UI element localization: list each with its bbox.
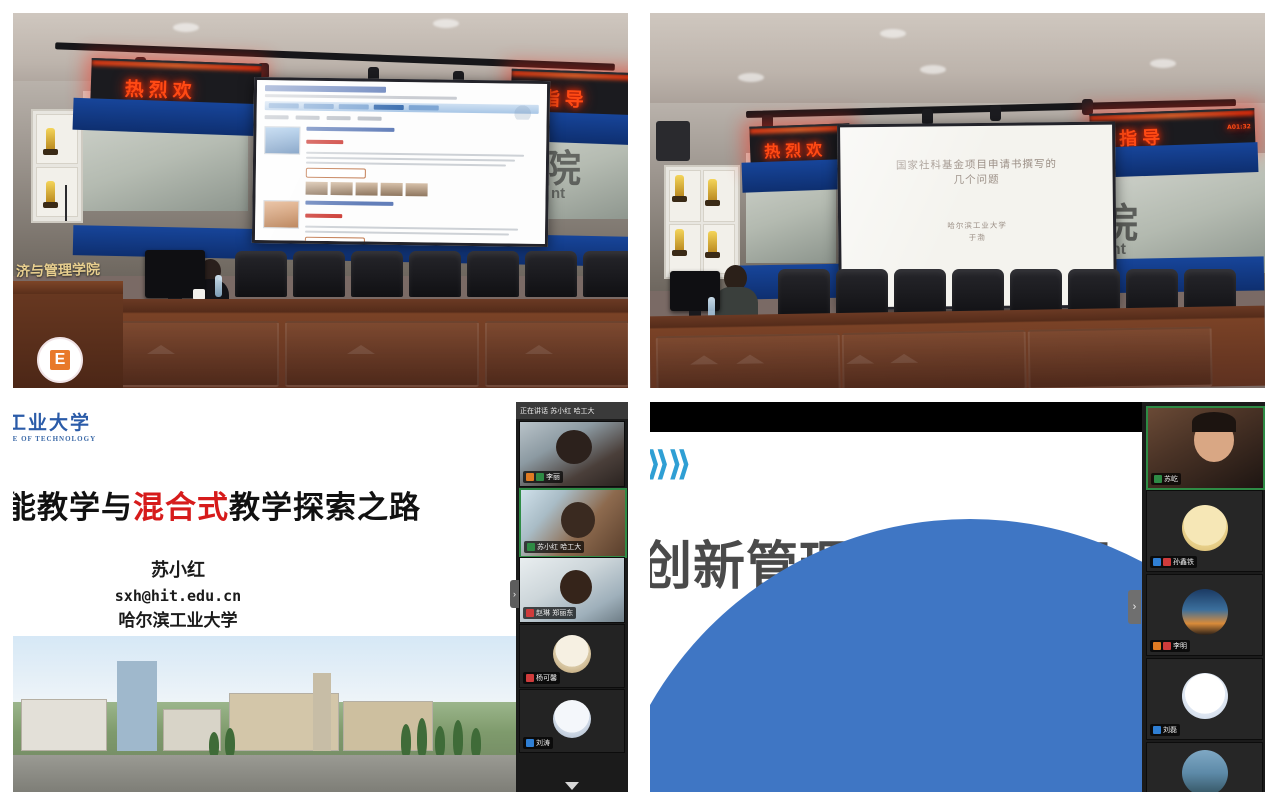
desk-chevron xyxy=(736,354,764,363)
ceiling-light-icon xyxy=(1150,59,1176,68)
participant-tile[interactable]: 刘磊 xyxy=(1146,658,1263,740)
trophy-icon xyxy=(675,229,684,251)
participant-name: 李丽 xyxy=(546,472,560,482)
campus-tower xyxy=(313,673,331,751)
school-emblem-logo: E xyxy=(37,337,83,383)
participant-name: 苏屹 xyxy=(1164,474,1178,484)
led-glow xyxy=(512,71,628,80)
mic-muted-icon xyxy=(526,609,534,617)
ceiling-light-icon xyxy=(433,19,459,28)
slide-email: sxh@hit.edu.cn xyxy=(53,585,303,608)
participant-face xyxy=(561,502,595,538)
shelf-cell xyxy=(669,224,701,274)
participant-name: 孙鑫铁 xyxy=(1173,557,1194,567)
participant-tile[interactable]: 赵琳 郑丽东 xyxy=(519,557,625,623)
lecture-hall-scene-2: 院 ent 热烈欢 xyxy=(650,13,1265,388)
desk-panel xyxy=(1028,327,1213,388)
participant-name: 苏小红 哈工大 xyxy=(537,542,581,552)
podium: E xyxy=(13,281,123,388)
hit-logo: 工业大学 TE OF TECHNOLOGY xyxy=(13,408,96,443)
blue-wall-panel xyxy=(72,98,263,137)
campus-tower xyxy=(117,661,157,751)
tree-icon xyxy=(417,718,427,758)
participant-name-badge: 刘涛 xyxy=(523,737,553,749)
tree-icon xyxy=(471,728,481,758)
ceiling-light-icon xyxy=(738,73,764,82)
participant-avatar xyxy=(1182,505,1228,551)
desk-chevron xyxy=(846,354,874,363)
participant-name-badge: 杨可馨 xyxy=(523,672,560,684)
led-clock-text: A01:32 xyxy=(1227,123,1251,131)
title-prefix: 能教学与 xyxy=(13,490,133,526)
campus-photo xyxy=(13,636,516,792)
photo-collage: 院 nt 热烈欢 临指导 xyxy=(0,0,1280,800)
participant-face xyxy=(556,430,592,464)
desk-chevron xyxy=(525,345,553,354)
mic-muted-icon xyxy=(1163,642,1171,650)
blue-wall-panel xyxy=(742,159,843,192)
trophy-icon xyxy=(46,181,55,203)
desk-chevron xyxy=(890,354,918,363)
trophy-icon xyxy=(46,128,55,150)
chevrons-icon: ⟫⟫ xyxy=(650,444,689,484)
active-speaker-header: 正在讲话 苏小红 哈工大 xyxy=(516,402,628,419)
shelf-cell xyxy=(36,114,78,164)
campus-road xyxy=(13,755,516,792)
participant-name-badge: 李丽 xyxy=(523,471,563,483)
desk-chevron xyxy=(690,355,718,364)
participant-avatar xyxy=(1182,750,1228,792)
participant-name-badge: 李明 xyxy=(1150,640,1190,652)
participant-tile-active[interactable]: 苏屹 xyxy=(1146,406,1265,490)
hit-slide-meta: 苏小红 sxh@hit.edu.cn 哈尔滨工业大学 xyxy=(53,557,303,634)
participant-name-badge: 刘磊 xyxy=(1150,724,1180,736)
participant-tile-active[interactable]: 苏小红 哈工大 xyxy=(519,488,627,558)
chair xyxy=(293,251,345,297)
panel-top-left: 院 nt 热烈欢 临指导 xyxy=(13,13,628,388)
trophy-icon xyxy=(675,175,684,197)
participant-name: 李明 xyxy=(1173,641,1187,651)
participant-tile[interactable]: 李明 xyxy=(1146,574,1263,656)
user-icon xyxy=(526,473,534,481)
hit-logo-cn: 工业大学 xyxy=(13,412,91,434)
scroll-down-arrow-icon[interactable] xyxy=(565,782,579,790)
led-banner-left-text: 热烈欢 xyxy=(764,136,828,162)
participant-name: 杨可馨 xyxy=(536,673,557,683)
spotlight-icon xyxy=(1082,99,1093,115)
conference-desk xyxy=(73,299,628,388)
wall-speaker-icon xyxy=(656,121,690,161)
desk-chevron xyxy=(347,345,375,354)
panel-bottom-right: ⟫⟫ 创新管理研究之我见 苏屹 哈尔滨工程大学 经济管理学院 2020-08-2… xyxy=(650,402,1265,792)
tree-icon xyxy=(453,720,463,758)
screen-sheen xyxy=(255,80,547,244)
slide-organization: 哈尔滨工业大学 xyxy=(53,608,303,634)
chair xyxy=(583,251,628,297)
title-highlight: 混合式 xyxy=(133,490,229,526)
tree-icon xyxy=(401,724,411,758)
participant-tile[interactable] xyxy=(1146,742,1263,792)
participant-avatar xyxy=(553,700,591,738)
participant-name: 刘涛 xyxy=(536,738,550,748)
participant-name-badge: 苏小红 哈工大 xyxy=(524,541,584,553)
mic-muted-icon xyxy=(1163,558,1171,566)
user-icon xyxy=(1153,726,1161,734)
ceiling-light-icon xyxy=(920,65,946,74)
ceiling-light-icon xyxy=(880,29,906,38)
shared-screen-area: ⟫⟫ 创新管理研究之我见 苏屹 哈尔滨工程大学 经济管理学院 2020-08-2… xyxy=(650,402,1142,792)
participant-tile[interactable]: 刘涛 xyxy=(519,689,625,753)
slide-presenter: 苏小红 xyxy=(53,557,303,585)
panel-bottom-left: 工业大学 TE OF TECHNOLOGY 能教学与混合式教学探索之路 苏小红 … xyxy=(13,402,628,792)
online-meeting-2: ⟫⟫ 创新管理研究之我见 苏屹 哈尔滨工程大学 经济管理学院 2020-08-2… xyxy=(650,402,1265,792)
participant-avatar xyxy=(1182,589,1228,635)
ceiling-light-icon xyxy=(173,23,199,32)
trophy-icon xyxy=(708,231,717,253)
chair xyxy=(409,251,461,297)
hit-logo-en: TE OF TECHNOLOGY xyxy=(13,435,96,443)
chair xyxy=(235,251,287,297)
participant-tile[interactable]: 孙鑫铁 xyxy=(1146,490,1263,572)
desk-chevron xyxy=(147,345,175,354)
active-speaker-label: 正在讲话 苏小红 哈工大 xyxy=(520,406,594,416)
participant-sidebar-1[interactable]: 正在讲话 苏小红 哈工大 李丽 苏小红 哈工 xyxy=(516,402,628,792)
participant-name-badge: 苏屹 xyxy=(1151,473,1181,485)
chair xyxy=(525,251,577,297)
user-icon xyxy=(1153,642,1161,650)
microphone-icon xyxy=(65,185,67,221)
title-suffix: 教学探索之路 xyxy=(229,490,421,526)
seat-row xyxy=(235,251,628,297)
user-icon xyxy=(1153,558,1161,566)
mic-muted-icon xyxy=(526,674,534,682)
tree-icon xyxy=(435,726,445,758)
participant-name: 赵琳 郑丽东 xyxy=(536,608,573,618)
participant-tile[interactable]: 杨可馨 xyxy=(519,624,625,688)
participant-tile[interactable]: 李丽 xyxy=(519,421,625,487)
participant-name: 刘磊 xyxy=(1163,725,1177,735)
lecture-hall-scene-1: 院 nt 热烈欢 临指导 xyxy=(13,13,628,388)
participant-avatar xyxy=(553,635,591,673)
wall-subtext: nt xyxy=(551,185,565,202)
shared-screen-area: 工业大学 TE OF TECHNOLOGY 能教学与混合式教学探索之路 苏小红 … xyxy=(13,402,516,792)
sky xyxy=(13,636,516,702)
desk-panel xyxy=(485,321,628,387)
participant-avatar xyxy=(1182,673,1228,719)
audio-on-icon xyxy=(527,543,535,551)
participant-name-badge: 孙鑫铁 xyxy=(1150,556,1197,568)
sidebar-collapse-button[interactable]: › xyxy=(510,580,519,608)
slide-top-bar xyxy=(650,402,1142,432)
conference-desk xyxy=(650,306,1265,388)
participant-hair xyxy=(1192,412,1236,432)
chair xyxy=(351,251,403,297)
user-icon xyxy=(526,739,534,747)
sidebar-collapse-button[interactable]: › xyxy=(1128,590,1141,624)
led-glow xyxy=(749,125,849,133)
desk-panel xyxy=(285,321,479,387)
podium-top xyxy=(13,281,123,294)
hit-slide: 工业大学 TE OF TECHNOLOGY 能教学与混合式教学探索之路 苏小红 … xyxy=(13,402,516,792)
su-slide: ⟫⟫ 创新管理研究之我见 苏屹 哈尔滨工程大学 经济管理学院 2020-08-2… xyxy=(650,402,1142,792)
spotlight-icon xyxy=(990,105,1001,121)
water-bottle xyxy=(215,275,222,297)
emblem-letter: E xyxy=(50,350,71,370)
participant-face xyxy=(560,570,592,604)
tree-icon xyxy=(225,728,235,758)
projection-screen-1 xyxy=(252,77,550,247)
chair xyxy=(778,269,830,319)
podium-school-text: 济与管理学院 xyxy=(16,259,100,281)
audio-on-icon xyxy=(1154,475,1162,483)
participant-sidebar-2[interactable]: 苏屹 孙鑫铁 李明 xyxy=(1142,402,1265,792)
online-meeting-1: 工业大学 TE OF TECHNOLOGY 能教学与混合式教学探索之路 苏小红 … xyxy=(13,402,628,792)
audio-on-icon xyxy=(536,473,544,481)
campus-building xyxy=(21,699,107,751)
hit-slide-title: 能教学与混合式教学探索之路 xyxy=(13,482,421,527)
panel-top-right: 院 ent 热烈欢 xyxy=(650,13,1265,388)
chair xyxy=(467,251,519,297)
participant-name-badge: 赵琳 郑丽东 xyxy=(523,607,576,619)
shelf-cell xyxy=(36,167,78,217)
trophy-icon xyxy=(708,179,717,201)
